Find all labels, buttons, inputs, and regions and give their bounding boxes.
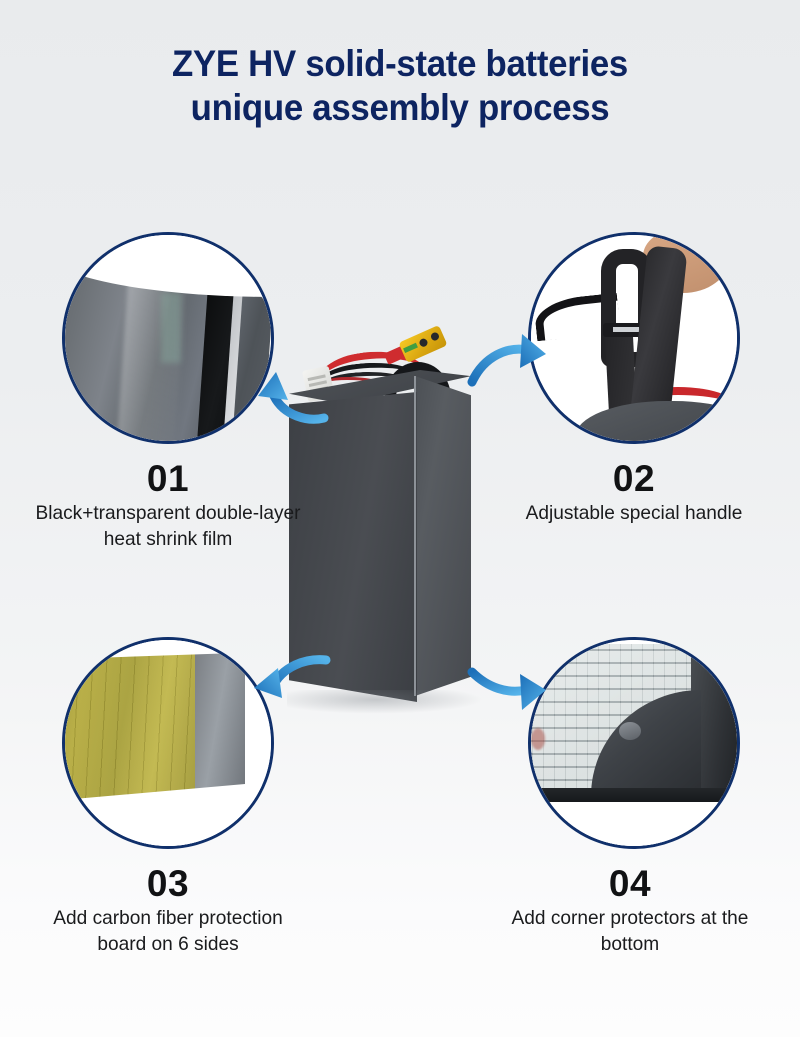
callout-text-03: Add carbon fiber protection board on 6 s… bbox=[31, 905, 305, 957]
page-title-line-1: ZYE HV solid-state batteries bbox=[24, 42, 776, 86]
battery-side-face bbox=[415, 376, 471, 696]
callout-circle-01 bbox=[62, 232, 274, 444]
arrow-to-callout-02 bbox=[466, 330, 552, 392]
arrow-to-callout-01 bbox=[250, 362, 330, 432]
arrow-to-callout-04 bbox=[466, 658, 552, 720]
callout-number-04: 04 bbox=[490, 863, 770, 905]
carbon-fiber-board-photo bbox=[65, 640, 271, 846]
callout-number-03: 03 bbox=[28, 863, 308, 905]
page-title-line-2: unique assembly process bbox=[24, 86, 776, 130]
battery-edge-highlight bbox=[414, 376, 416, 696]
callout-text-04: Add corner protectors at the bottom bbox=[493, 905, 767, 957]
callout-caption-04: 04 Add corner protectors at the bottom bbox=[490, 863, 770, 957]
callout-text-01: Black+transparent double-layer heat shri… bbox=[31, 500, 305, 552]
callout-circle-03 bbox=[62, 637, 274, 849]
callout-number-02: 02 bbox=[494, 458, 774, 500]
callout-text-02: Adjustable special handle bbox=[497, 500, 771, 526]
callout-number-01: 01 bbox=[28, 458, 308, 500]
arrow-to-callout-03 bbox=[248, 644, 332, 712]
corner-protector-photo bbox=[531, 640, 737, 846]
callout-caption-03: 03 Add carbon fiber protection board on … bbox=[28, 863, 308, 957]
callout-caption-01: 01 Black+transparent double-layer heat s… bbox=[28, 458, 308, 552]
callout-circle-02 bbox=[528, 232, 740, 444]
velcro-handle-photo bbox=[531, 235, 737, 441]
callout-circle-04 bbox=[528, 637, 740, 849]
heat-shrink-film-photo bbox=[65, 235, 271, 441]
xt90-connector bbox=[398, 325, 447, 363]
callout-caption-02: 02 Adjustable special handle bbox=[494, 458, 774, 526]
page-title: ZYE HV solid-state batteries unique asse… bbox=[0, 42, 800, 130]
